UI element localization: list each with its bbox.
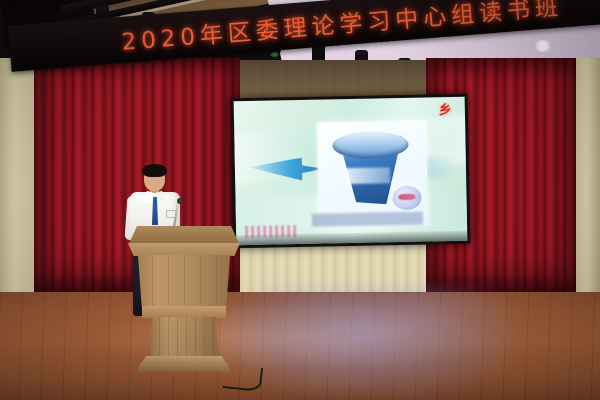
slide-logo-icon: 乡 [439, 104, 456, 118]
lectern-base [150, 317, 218, 358]
lectern-plinth-lower [137, 363, 231, 372]
stage-photo: 乡 2020年区委理论学习中心组读书班 [0, 0, 600, 400]
slide-cup-rim [333, 131, 409, 159]
speaker-hair [142, 164, 167, 177]
stage-floor [0, 292, 600, 400]
slide-badge-graphic [392, 186, 422, 210]
wooden-lectern [128, 226, 240, 372]
slide-cup-label [346, 167, 390, 184]
projection-screen: 乡 [231, 94, 471, 249]
lectern-body [136, 255, 232, 307]
projection-screen-surface: 乡 [234, 97, 468, 245]
lectern-top-face [128, 243, 240, 256]
wall-pillar-right [574, 58, 600, 298]
microphone-cable [223, 364, 263, 392]
lectern-plinth-upper [141, 356, 227, 364]
slide-caption-text [312, 211, 423, 226]
lectern-midsection [142, 306, 226, 318]
lectern-body-grain [136, 255, 232, 307]
wall-pillar-left [0, 58, 36, 298]
slide-photo [317, 121, 428, 227]
lectern-base-grain [150, 317, 218, 358]
microphone-icon [177, 198, 182, 204]
